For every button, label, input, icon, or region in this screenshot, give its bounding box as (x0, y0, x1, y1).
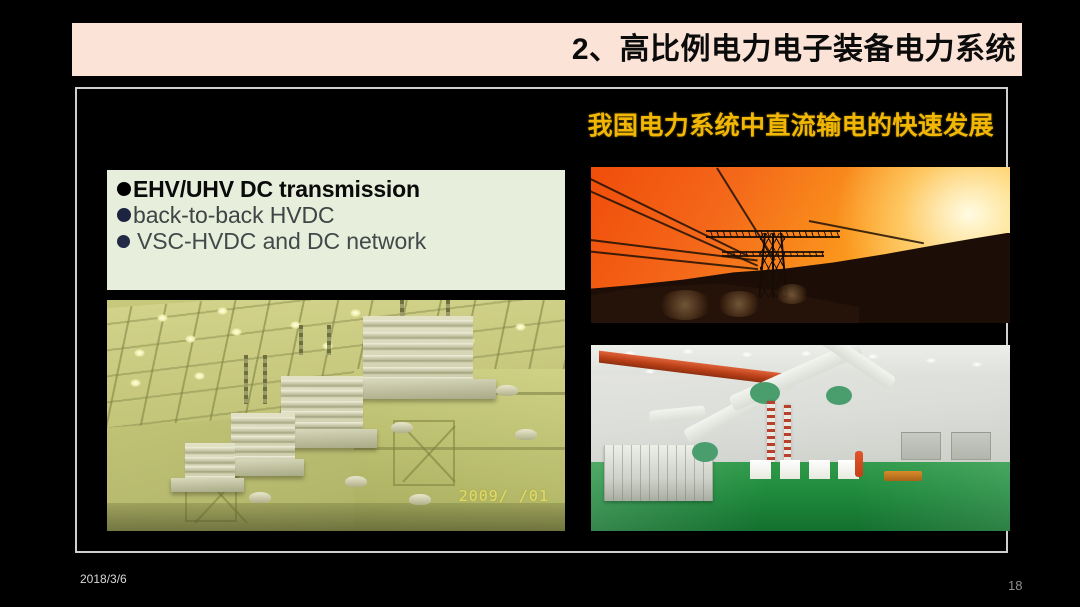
lens-flare (717, 291, 761, 317)
photo-hvdc-converter-valve-hall: 2009/ /01 (107, 300, 565, 531)
list-item: EHV/UHV DC transmission (117, 178, 555, 201)
ceiling-lamp-icon (217, 307, 228, 315)
suspension-insulator (496, 385, 518, 396)
slide-header-bar: 2、高比例电力电子装备电力系统 (72, 23, 1022, 76)
bullet-dot-icon (117, 182, 131, 196)
valve-hanger (299, 325, 303, 355)
slide-date: 2018/3/6 (80, 572, 127, 586)
valve-hanger (446, 300, 450, 316)
ceiling-lamp-icon (185, 335, 196, 343)
valve-hall-floor (107, 503, 565, 531)
bullet-dot-icon (117, 235, 130, 248)
bullet-label: EHV/UHV DC transmission (133, 178, 420, 201)
ceiling-lamp-icon (350, 309, 361, 317)
slide-title: 2、高比例电力电子装备电力系统 (572, 35, 1016, 65)
bushing-flange (826, 386, 852, 405)
wall-niche (901, 432, 941, 460)
valve-hanger (327, 325, 331, 355)
photo-timestamp: 2009/ /01 (459, 487, 549, 505)
lens-flare (658, 290, 712, 320)
hall-window (750, 460, 771, 479)
thyristor-valve-stack (363, 316, 473, 381)
bullet-dot-icon (117, 208, 131, 222)
voltage-divider-column (784, 405, 791, 463)
bullet-label: VSC-HVDC and DC network (137, 230, 426, 253)
bullet-list-panel: EHV/UHV DC transmission back-to-back HVD… (107, 170, 565, 290)
equipment-cart (884, 471, 922, 480)
bullet-label: back-to-back HVDC (133, 204, 335, 227)
valve-shield-roof (345, 379, 496, 400)
suspension-insulator (249, 492, 271, 503)
valve-shield-roof (171, 478, 244, 492)
photo-uhv-transmission-tower-sunset (591, 167, 1010, 323)
slide-content-box: 我国电力系统中直流输电的快速发展 EHV/UHV DC transmission… (75, 87, 1008, 553)
ceiling-lamp-icon (683, 349, 693, 354)
hall-window (780, 460, 801, 479)
hall-window (809, 460, 830, 479)
list-item: VSC-HVDC and DC network (117, 230, 555, 253)
slide-subtitle: 我国电力系统中直流输电的快速发展 (588, 106, 994, 142)
photo-converter-transformer-hall (591, 345, 1010, 531)
suspension-insulator (515, 429, 537, 440)
ceiling-lamp-icon (134, 349, 145, 357)
ceiling-lamp-icon (130, 379, 141, 387)
valve-hanger (244, 355, 248, 404)
thyristor-valve-stack (185, 443, 235, 480)
valve-hanger (263, 355, 267, 404)
wall-niche (951, 432, 991, 460)
presentation-slide: 2、高比例电力电子装备电力系统 我国电力系统中直流输电的快速发展 EHV/UHV… (0, 0, 1080, 607)
voltage-divider-column (767, 401, 775, 462)
suspension-insulator (345, 476, 367, 487)
suspension-insulator (409, 494, 431, 505)
bushing-flange (692, 442, 718, 462)
suspension-insulator (391, 422, 413, 433)
person-silhouette (855, 451, 863, 477)
thyristor-valve-stack (231, 413, 295, 462)
slide-page-number: 18 (1008, 578, 1022, 593)
list-item: back-to-back HVDC (117, 204, 555, 227)
ceiling-lamp-icon (972, 362, 982, 367)
ceiling-lamp-icon (231, 328, 242, 336)
ceiling-lamp-icon (194, 372, 205, 380)
ceiling-lamp-icon (515, 323, 526, 331)
ceiling-lamp-icon (801, 351, 811, 356)
